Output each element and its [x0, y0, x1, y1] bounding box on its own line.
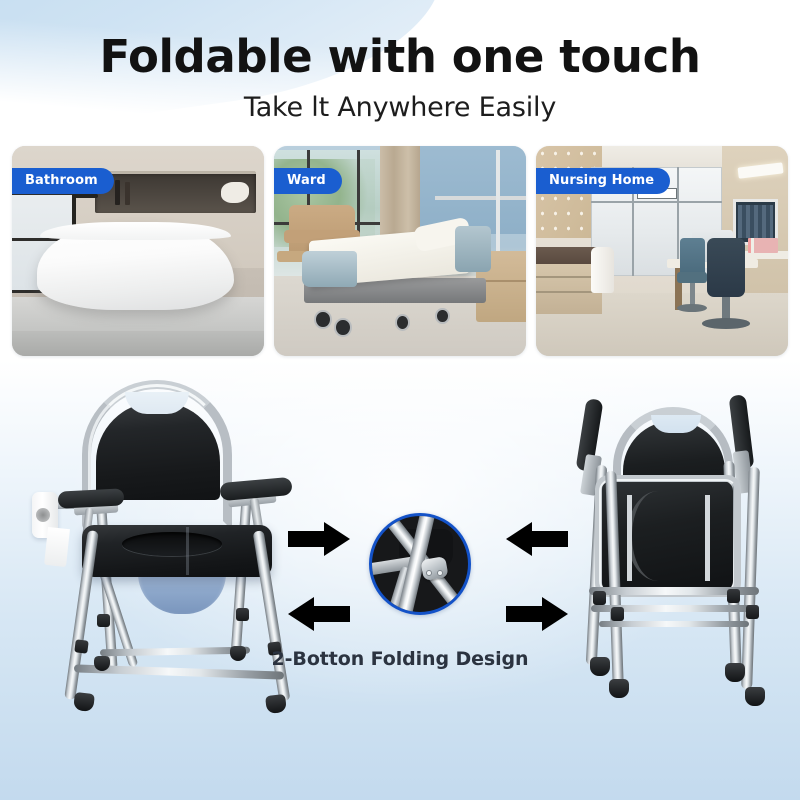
waste-bin	[591, 247, 614, 293]
height-adjust-collar	[746, 605, 759, 619]
arrow-fold-right-bottom	[506, 597, 568, 631]
supply-bottles	[748, 238, 778, 253]
toiletry-bottle-icon	[125, 182, 130, 205]
scene-badge-bathroom: Bathroom	[12, 168, 114, 194]
scene-card-row: Bathroom	[12, 146, 788, 356]
left-armrest	[58, 488, 125, 508]
bed-rail	[455, 226, 490, 272]
office-chair	[707, 238, 745, 297]
release-button-icon	[437, 570, 443, 576]
folding-joint-detail-callout[interactable]	[369, 513, 471, 615]
rubber-foot	[73, 692, 95, 712]
height-adjust-collar	[611, 607, 624, 621]
fold-caption: 2-Botton Folding Design	[0, 648, 800, 670]
scene-card-nursing-home[interactable]: Nursing Home	[536, 146, 788, 356]
arrow-unfold-right-top	[288, 522, 350, 556]
office-chair	[680, 238, 705, 276]
scene-badge-nursing-home: Nursing Home	[536, 168, 670, 194]
header: Foldable with one touch Take lt Anywhere…	[0, 0, 800, 123]
bed-caster-icon	[314, 310, 332, 329]
product-marketing-image: Foldable with one touch Take lt Anywhere…	[0, 0, 800, 800]
product-image-unfolded-chair	[30, 380, 305, 725]
height-adjust-collar	[97, 614, 110, 627]
arrow-fold-left-top	[506, 522, 568, 556]
toiletry-bottle-icon	[115, 180, 120, 205]
rubber-foot	[265, 694, 287, 714]
scene-card-ward[interactable]: Ward	[274, 146, 526, 356]
scene-badge-ward: Ward	[274, 168, 342, 194]
release-button-icon	[426, 570, 432, 576]
rubber-foot	[609, 679, 629, 698]
decor-object	[221, 182, 249, 203]
arrow-unfold-left-bottom	[288, 597, 350, 631]
rear-right-leg	[231, 500, 252, 656]
lower-crossbar	[599, 621, 749, 627]
iv-pole-icon	[496, 150, 500, 251]
product-image-folded-chair	[565, 395, 790, 725]
scene-card-bathroom[interactable]: Bathroom	[12, 146, 264, 356]
bed-rail	[302, 251, 357, 287]
page-title: Foldable with one touch	[0, 33, 800, 80]
page-subtitle: Take lt Anywhere Easily	[0, 92, 800, 123]
rubber-foot	[745, 687, 765, 706]
height-adjust-collar	[236, 608, 249, 621]
bed-caster-icon	[395, 314, 410, 331]
height-adjust-collar	[593, 591, 606, 605]
height-adjust-collar	[727, 589, 740, 603]
seat-opening	[122, 532, 222, 556]
